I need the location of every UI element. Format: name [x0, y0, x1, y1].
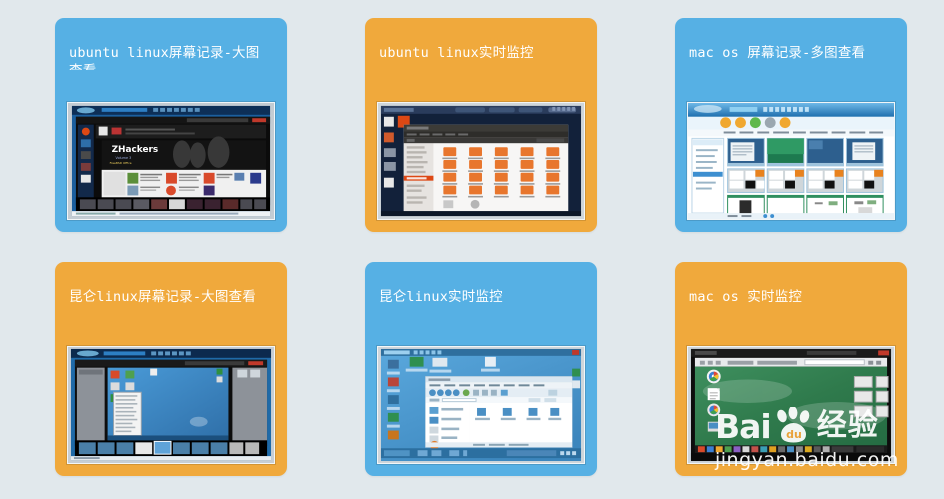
- card-title: mac os 屏幕记录-多图查看: [675, 18, 907, 70]
- svg-text:FreeBSD Office: FreeBSD Office: [110, 161, 132, 165]
- card-mac-os-screen-record-multi-view[interactable]: mac os 屏幕记录-多图查看: [675, 18, 907, 232]
- card-kunlun-linux-screen-record-large-view[interactable]: 昆仑linux屏幕记录-大图查看: [55, 262, 287, 476]
- card-title: 昆仑linux实时监控: [365, 262, 597, 314]
- card-title: ubuntu linux屏幕记录-大图查看: [55, 18, 287, 70]
- card-ubuntu-linux-realtime-monitor[interactable]: ubuntu linux实时监控: [365, 18, 597, 232]
- card-grid: ubuntu linux屏幕记录-大图查看: [0, 0, 944, 499]
- card-ubuntu-linux-screen-record-large-view[interactable]: ubuntu linux屏幕记录-大图查看: [55, 18, 287, 232]
- card-mac-os-realtime-monitor[interactable]: mac os 实时监控: [675, 262, 907, 476]
- svg-text:Volume 3: Volume 3: [116, 156, 132, 160]
- card-title: mac os 实时监控: [675, 262, 907, 314]
- thumb-kunlun-screen-record[interactable]: [67, 346, 275, 464]
- thumb-kunlun-realtime-monitor[interactable]: [377, 346, 585, 464]
- svg-text:ZHackers: ZHackers: [112, 145, 159, 155]
- card-kunlun-linux-realtime-monitor[interactable]: 昆仑linux实时监控: [365, 262, 597, 476]
- thumb-macos-multi-view[interactable]: [687, 102, 895, 220]
- card-title: ubuntu linux实时监控: [365, 18, 597, 70]
- thumb-macos-realtime-monitor[interactable]: [687, 346, 895, 464]
- thumb-ubuntu-realtime-monitor[interactable]: [377, 102, 585, 220]
- thumb-ubuntu-screen-record[interactable]: ZHackers Volume 3 FreeBSD Office: [67, 102, 275, 220]
- card-title: 昆仑linux屏幕记录-大图查看: [55, 262, 287, 314]
